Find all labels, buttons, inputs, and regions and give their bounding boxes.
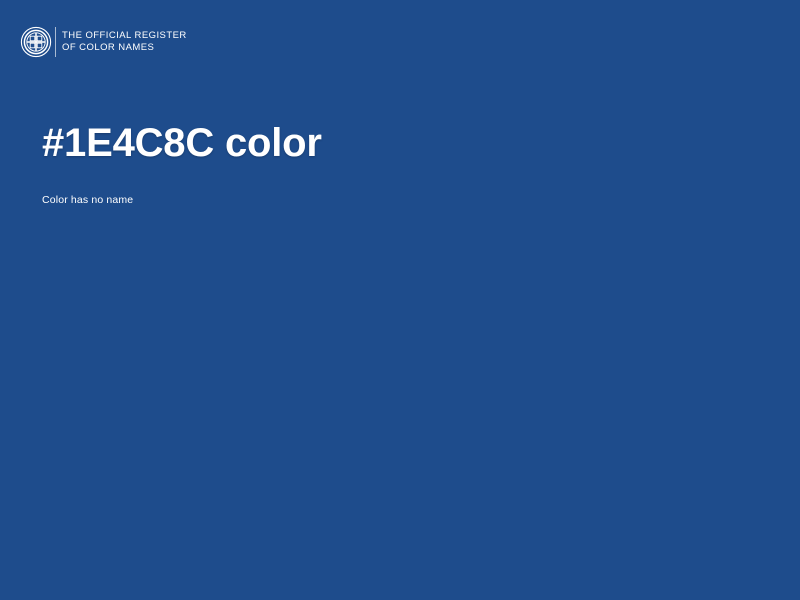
color-info-block: #1E4C8C color Color has no name — [42, 118, 742, 207]
color-swatch-background — [0, 0, 800, 600]
register-seal-icon — [20, 26, 52, 58]
brand-title-line-2: OF COLOR NAMES — [62, 42, 187, 55]
page-title: #1E4C8C color — [42, 118, 742, 168]
brand-title: THE OFFICIAL REGISTER OF COLOR NAMES — [62, 30, 187, 55]
color-name-status: Color has no name — [42, 168, 742, 207]
color-page: THE OFFICIAL REGISTER OF COLOR NAMES #1E… — [0, 0, 800, 600]
brand-lockup[interactable]: THE OFFICIAL REGISTER OF COLOR NAMES — [20, 24, 187, 60]
brand-divider — [55, 27, 56, 57]
brand-title-line-1: THE OFFICIAL REGISTER — [62, 30, 187, 43]
